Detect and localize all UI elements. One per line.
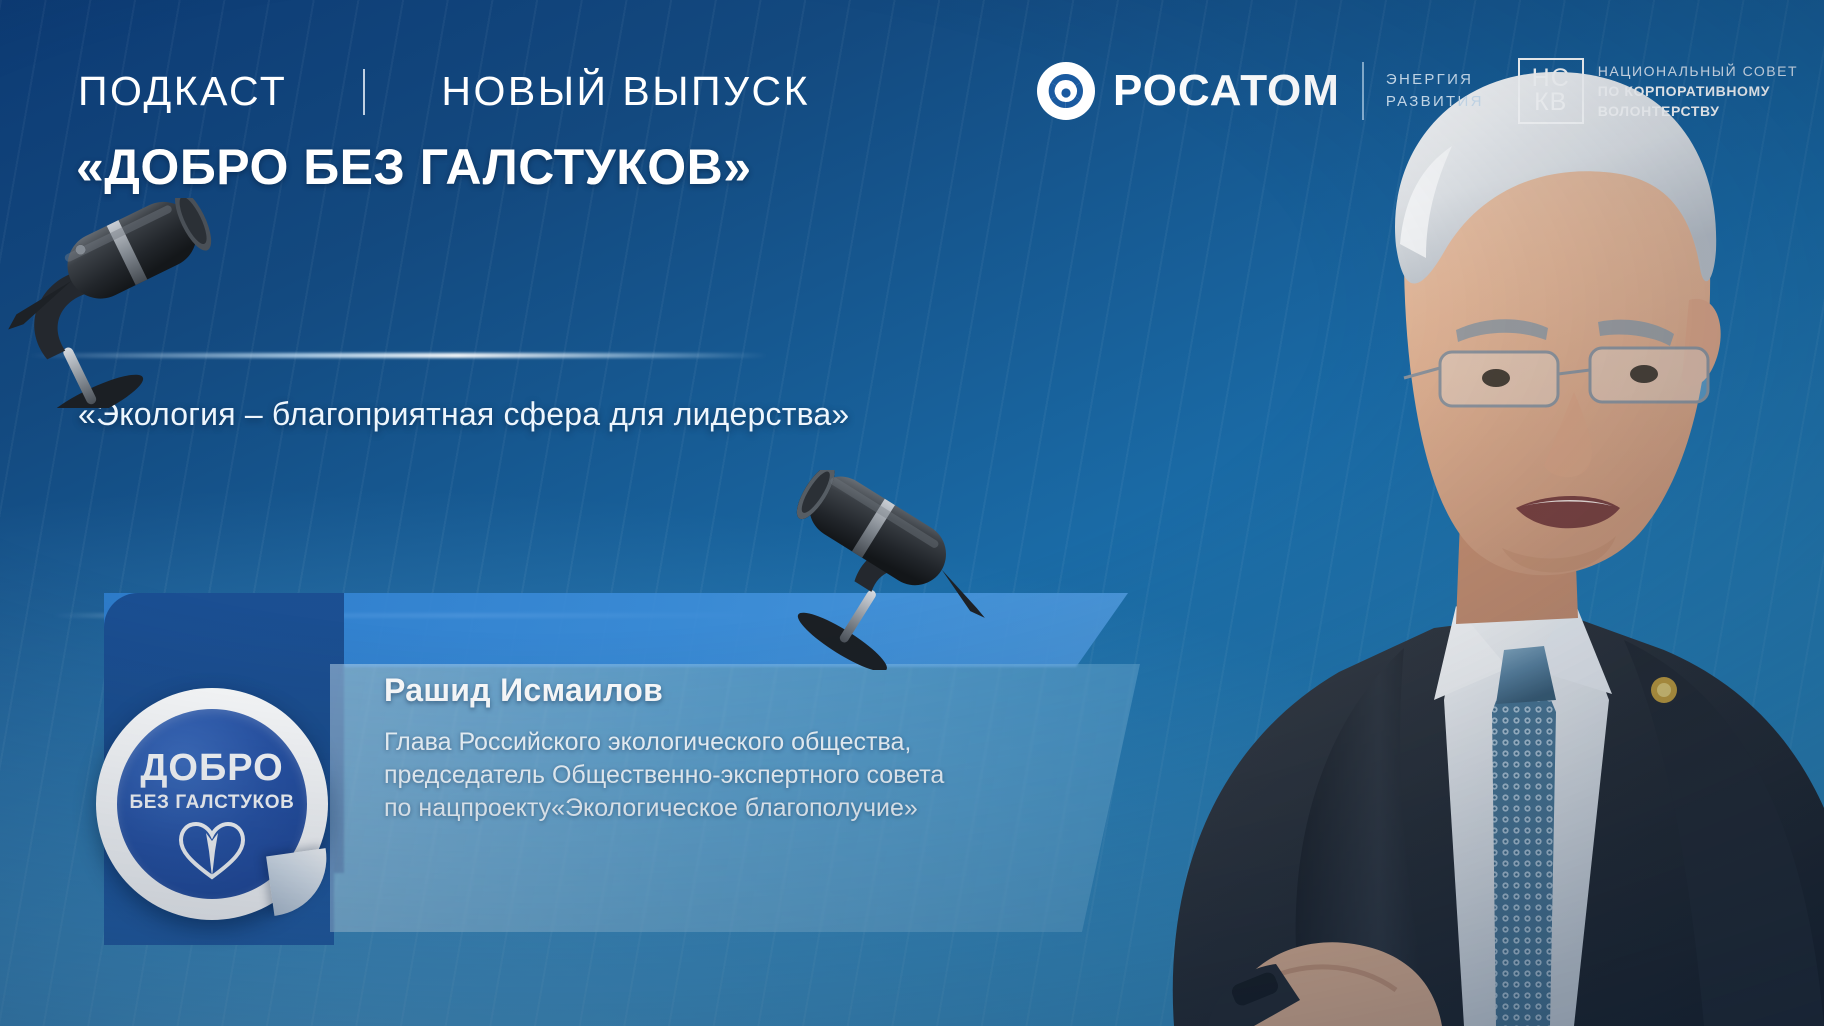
kicker-separator — [363, 69, 365, 115]
logo-group: РОСАТОМ ЭНЕРГИЯ РАЗВИТИЯ НС КВ НАЦИОНАЛЬ… — [1037, 58, 1798, 124]
speaker-photo — [1104, 0, 1824, 1026]
rosatom-atom-icon — [1037, 62, 1095, 120]
badge-line-1: ДОБРО — [140, 749, 283, 787]
podcast-announcement-banner: ПОДКАСТ НОВЫЙ ВЫПУСК «ДОБРО БЕЗ ГАЛСТУКО… — [0, 0, 1824, 1026]
nskv-line-3: ВОЛОНТЕРСТВУ — [1598, 101, 1798, 121]
rosatom-wordmark: РОСАТОМ — [1113, 66, 1340, 116]
podcast-sticker-badge: ДОБРО БЕЗ ГАЛСТУКОВ — [96, 688, 328, 920]
microphone-icon-center — [772, 470, 1002, 675]
heart-tie-icon — [178, 821, 246, 886]
page-title: «ДОБРО БЕЗ ГАЛСТУКОВ» — [76, 138, 752, 196]
logo-divider — [1362, 62, 1364, 120]
kicker-line: ПОДКАСТ НОВЫЙ ВЫПУСК — [78, 68, 810, 115]
badge-corner-curl — [266, 848, 334, 916]
nskv-monogram-icon: НС КВ — [1518, 58, 1584, 124]
nskv-wordmark: НАЦИОНАЛЬНЫЙ СОВЕТ ПО КОРПОРАТИВНОМУ ВОЛ… — [1598, 61, 1798, 122]
speaker-name: Рашид Исмаилов — [384, 672, 663, 709]
microphone-icon-left — [0, 198, 232, 413]
nskv-line-2: ПО КОРПОРАТИВНОМУ — [1598, 81, 1798, 101]
nskv-abbr-line2: КВ — [1534, 91, 1567, 115]
speaker-role: Глава Российского экологического обществ… — [384, 726, 1064, 825]
rosatom-tagline: ЭНЕРГИЯ РАЗВИТИЯ — [1386, 69, 1484, 114]
badge-line-2: БЕЗ ГАЛСТУКОВ — [130, 792, 295, 814]
rosatom-logo: РОСАТОМ — [1037, 62, 1340, 120]
kicker-podcast-label: ПОДКАСТ — [78, 68, 287, 115]
kicker-new-episode-label: НОВЫЙ ВЫПУСК — [441, 68, 810, 115]
nskv-line-1: НАЦИОНАЛЬНЫЙ СОВЕТ — [1598, 61, 1798, 81]
nskv-logo: НС КВ НАЦИОНАЛЬНЫЙ СОВЕТ ПО КОРПОРАТИВНО… — [1518, 58, 1798, 124]
